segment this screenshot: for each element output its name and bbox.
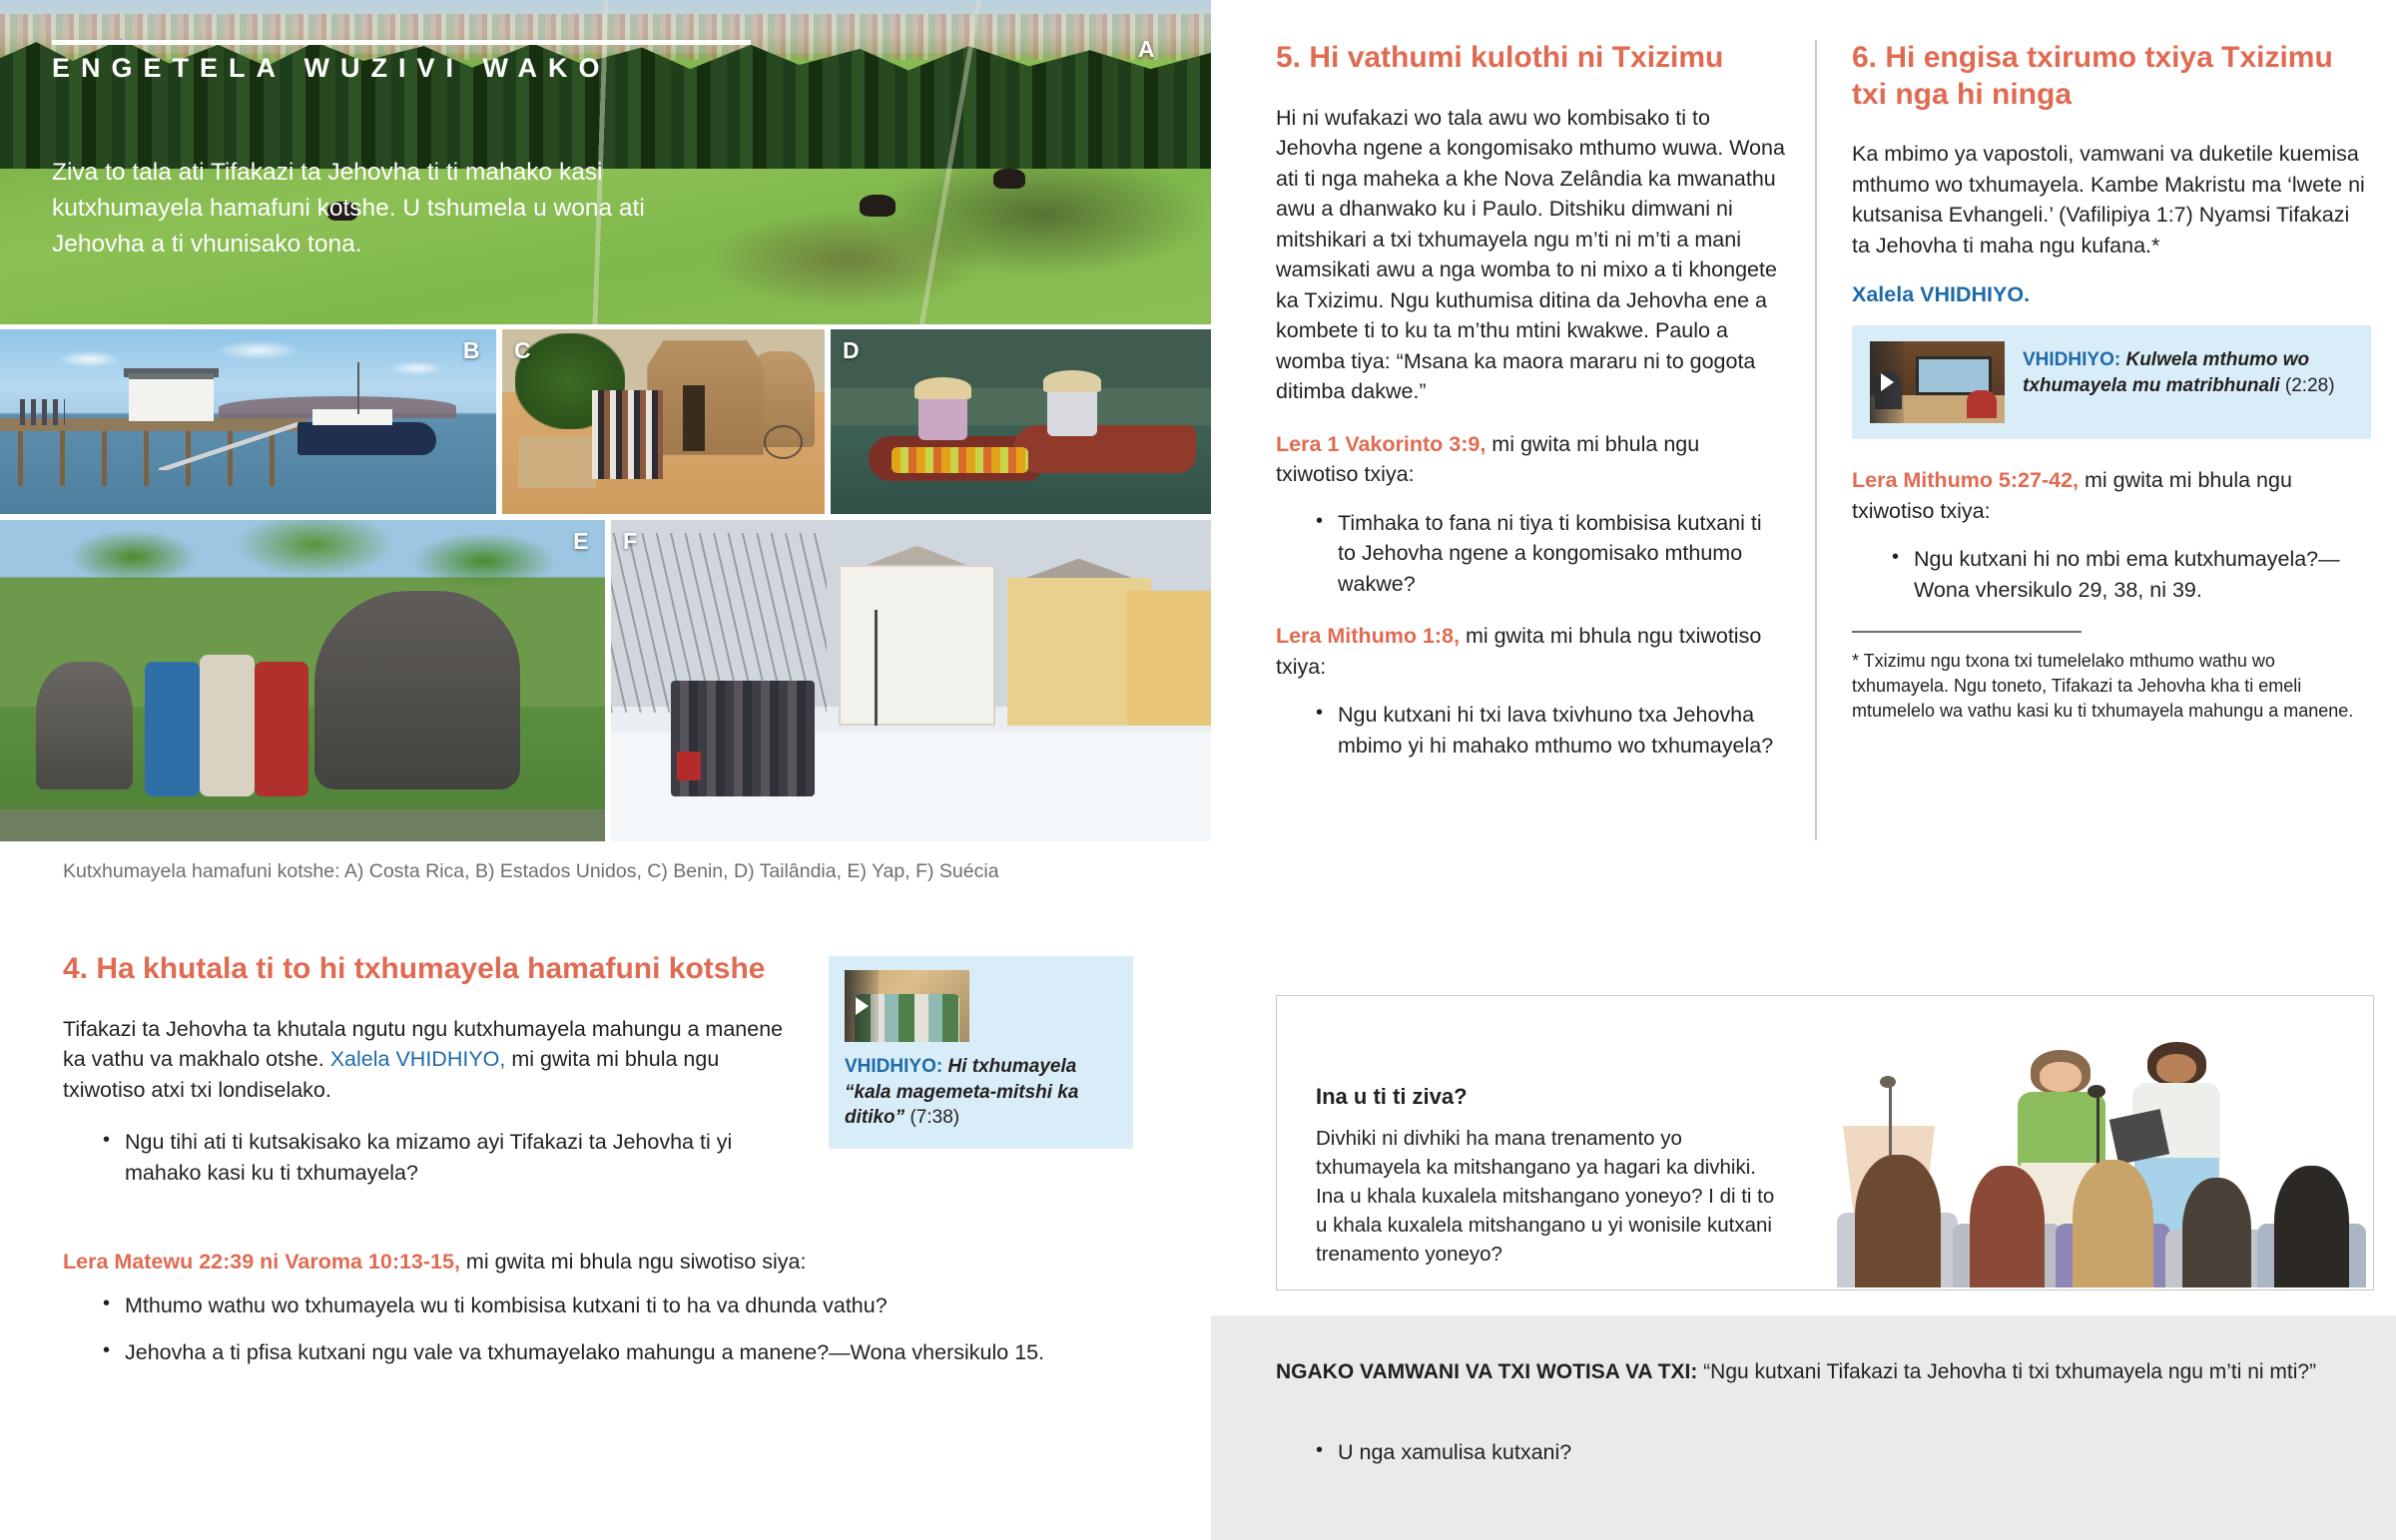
photo-c-image	[502, 329, 825, 514]
section-5-bullets-2: Ngu kutxani hi txi lava txivhuno txa Jeh…	[1276, 700, 1785, 761]
section-5-paragraph: Hi ni wufakazi wo tala awu wo kombisako …	[1276, 103, 1785, 407]
video-label: VHIDHIYO:	[2023, 349, 2120, 370]
title-rule	[52, 40, 751, 45]
photo-label-d: D	[843, 337, 860, 364]
photo-a-costa-rica: ENGETELA WUZIVI WAKO Ziva to tala ati Ti…	[0, 0, 1211, 324]
video-box-section-4[interactable]: VHIDHIYO: Hi txhumayela “kala magemeta-m…	[829, 956, 1133, 1149]
list-item: Ngu tihi ati ti kutsakisako ka mizamo ay…	[103, 1127, 802, 1188]
section-6-cue: Lera Mithumo 5:27-42, mi gwita mi bhula …	[1852, 465, 2371, 526]
section-4-paragraph: Tifakazi ta Jehovha ta khutala ngutu ngu…	[63, 1014, 802, 1106]
list-item: Jehovha a ti pfisa kutxani ngu vale va t…	[103, 1337, 1211, 1368]
video-thumbnail[interactable]	[845, 970, 969, 1042]
section-6: 6. Hi engisa txirumo txiya Txizimu txi n…	[1852, 40, 2371, 724]
section-4-bullets-2: Mthumo wathu wo txhumayela wu ti kombisi…	[63, 1290, 1211, 1383]
list-item: Ngu kutxani hi txi lava txivhuno txa Jeh…	[1316, 700, 1785, 761]
footnote-text: * Txizimu ngu txona txi tumelelako mthum…	[1852, 649, 2371, 723]
congregation-illustration	[1797, 998, 2372, 1287]
photo-label-c: C	[514, 337, 531, 364]
photo-collage: ENGETELA WUZIVI WAKO Ziva to tala ati Ti…	[0, 0, 1211, 843]
boat-mast	[357, 362, 359, 414]
section-4-bullets: Ngu tihi ati ti kutsakisako ka mizamo ay…	[63, 1127, 802, 1188]
video-thumb-screen	[1916, 356, 1992, 395]
woman-figure	[255, 662, 309, 796]
microphone-icon	[2088, 1085, 2105, 1098]
cow-icon	[993, 169, 1025, 189]
audience-head	[1855, 1155, 1941, 1287]
house	[839, 565, 994, 726]
red-bag	[677, 752, 701, 780]
did-you-know-heading: Ina u ti ti ziva?	[1316, 1084, 1468, 1110]
photo-label-a: A	[1138, 36, 1155, 63]
cow-icon	[860, 195, 896, 217]
photo-f-suecia: F	[611, 520, 1211, 841]
gangway-ramp	[159, 422, 302, 470]
section-5-heading: 5. Hi vathumi kulothi ni Txizimu	[1276, 40, 1785, 77]
photo-b-image	[0, 329, 496, 514]
audience-head	[2073, 1160, 2153, 1287]
video-caption: VHIDHIYO: Hi txhumayela “kala magemeta-m…	[845, 1054, 1117, 1131]
scripture-ref: Lera Mithumo 5:27-42,	[1852, 468, 2079, 492]
footer-lead-label: NGAKO VAMWANI VA TXI WOTISA VA TXI:	[1276, 1360, 1697, 1383]
photo-row-2: B C	[0, 329, 1211, 514]
stone-block	[518, 436, 596, 488]
footer-band	[1211, 1315, 2396, 1540]
people-group	[592, 390, 663, 479]
vendor-figure	[1047, 385, 1097, 437]
woman-figure	[200, 655, 255, 796]
section-4-heading: 4. Ha khutala ti to hi txhumayela hamafu…	[63, 951, 802, 988]
publication-page: ENGETELA WUZIVI WAKO Ziva to tala ati Ti…	[0, 0, 2396, 1540]
photo-row-3: E F	[0, 520, 1211, 841]
torso	[2018, 1092, 2105, 1167]
street-lamp	[875, 610, 878, 726]
woman-figure	[145, 662, 200, 796]
video-thumb-figure	[1967, 390, 1997, 418]
scripture-ref: Lera 1 Vakorinto 3:9,	[1276, 432, 1486, 456]
stone-money-disc	[36, 662, 133, 790]
video-label: VHIDHIYO:	[845, 1056, 942, 1077]
scripture-ref: Lera Matewu 22:39 ni Varoma 10:13-15,	[63, 1250, 460, 1274]
shed	[129, 373, 213, 421]
video-duration: (2:28)	[2285, 375, 2335, 396]
vendor-figure	[918, 392, 968, 440]
play-icon[interactable]	[845, 970, 879, 1042]
photo-b-estados-unidos: B	[0, 329, 496, 514]
section-5-bullets-1: Timhaka to fana ni tiya ti kombisisa kut…	[1276, 508, 1785, 600]
section-5: 5. Hi vathumi kulothi ni Txizimu Hi ni w…	[1276, 40, 1785, 776]
list-item: Mthumo wathu wo txhumayela wu ti kombisi…	[103, 1290, 1211, 1321]
page-title: ENGETELA WUZIVI WAKO	[52, 52, 811, 86]
footer-lead-text: NGAKO VAMWANI VA TXI WOTISA VA TXI: “Ngu…	[1276, 1357, 2354, 1387]
photo-d-tailandia: D	[831, 329, 1211, 514]
footer-bullets: U nga xamulisa kutxani?	[1276, 1437, 2314, 1484]
video-duration: (7:38)	[909, 1107, 959, 1128]
audience-head	[1970, 1166, 2045, 1287]
scripture-ref: Lera Mithumo 1:8,	[1276, 624, 1460, 648]
section-5-cue-2: Lera Mithumo 1:8, mi gwita mi bhula ngu …	[1276, 621, 1785, 682]
play-icon[interactable]	[1870, 341, 1904, 423]
fishing-boat	[298, 422, 436, 455]
conical-hat	[1043, 370, 1100, 392]
boat-cabin	[312, 409, 392, 426]
face	[2156, 1054, 2197, 1083]
house	[1127, 591, 1211, 726]
section-6-paragraph: Ka mbimo ya vapostoli, vamwani va duketi…	[1852, 139, 2371, 260]
microphone-icon	[1880, 1076, 1896, 1088]
section-4-cue: Lera Matewu 22:39 ni Varoma 10:13-15, mi…	[63, 1247, 1161, 1278]
section-5-cue-1: Lera 1 Vakorinto 3:9, mi gwita mi bhula …	[1276, 429, 1785, 490]
footnote-divider	[1852, 631, 2082, 633]
video-caption: VHIDHIYO: Kulwela mthumo wo txhumayela m…	[2023, 341, 2353, 399]
section-6-heading: 6. Hi engisa txirumo txiya Txizimu txi n…	[1852, 40, 2371, 113]
clouds	[0, 335, 496, 395]
watch-video-link[interactable]: Xalela VHIDHIYO,	[330, 1047, 506, 1071]
people-group	[20, 399, 65, 425]
list-item: Ngu kutxani hi no mbi ema kutxhumayela?—…	[1892, 544, 2371, 605]
face	[2040, 1062, 2082, 1092]
collage-caption: Kutxhumayela hamafuni kotshe: A) Costa R…	[63, 860, 1201, 883]
watch-video-link[interactable]: Xalela VHIDHIYO.	[1852, 282, 2371, 307]
photo-e-image	[0, 520, 605, 841]
section-4: 4. Ha khutala ti to hi txhumayela hamafu…	[63, 951, 802, 1204]
bicycle-icon	[764, 425, 804, 459]
photo-f-image	[611, 520, 1211, 841]
video-box-section-6[interactable]: VHIDHIYO: Kulwela mthumo wo txhumayela m…	[1852, 325, 2371, 439]
market-boat	[1013, 425, 1196, 473]
audience-head	[2274, 1166, 2349, 1287]
photo-e-yap: E	[0, 520, 605, 841]
cue-rest: mi gwita mi bhula ngu siwotiso siya:	[460, 1250, 807, 1274]
photo-d-image	[831, 329, 1211, 514]
doorway	[683, 385, 706, 452]
did-you-know-body: Divhiki ni divhiki ha mana trenamento yo…	[1316, 1124, 1785, 1270]
photo-c-benin: C	[502, 329, 825, 514]
stone-money-disc	[314, 591, 520, 790]
list-item: Timhaka to fana ni tiya ti kombisisa kut…	[1316, 508, 1785, 600]
column-divider	[1815, 40, 1817, 840]
photo-label-b: B	[463, 337, 480, 364]
shoreline	[0, 809, 605, 841]
conical-hat	[914, 377, 971, 399]
fruit-produce	[892, 447, 1028, 473]
section-6-bullets: Ngu kutxani hi no mbi ema kutxhumayela?—…	[1852, 544, 2371, 605]
page-subtitle: Ziva to tala ati Tifakazi ta Jehovha ti …	[52, 155, 711, 262]
photo-label-f: F	[623, 528, 638, 555]
photo-label-e: E	[573, 528, 589, 555]
footer-quote: “Ngu kutxani Tifakazi ta Jehovha ti txi …	[1697, 1360, 2316, 1383]
video-thumbnail[interactable]	[1870, 341, 2005, 423]
audience-head	[2182, 1178, 2251, 1287]
list-item: U nga xamulisa kutxani?	[1316, 1437, 2314, 1468]
